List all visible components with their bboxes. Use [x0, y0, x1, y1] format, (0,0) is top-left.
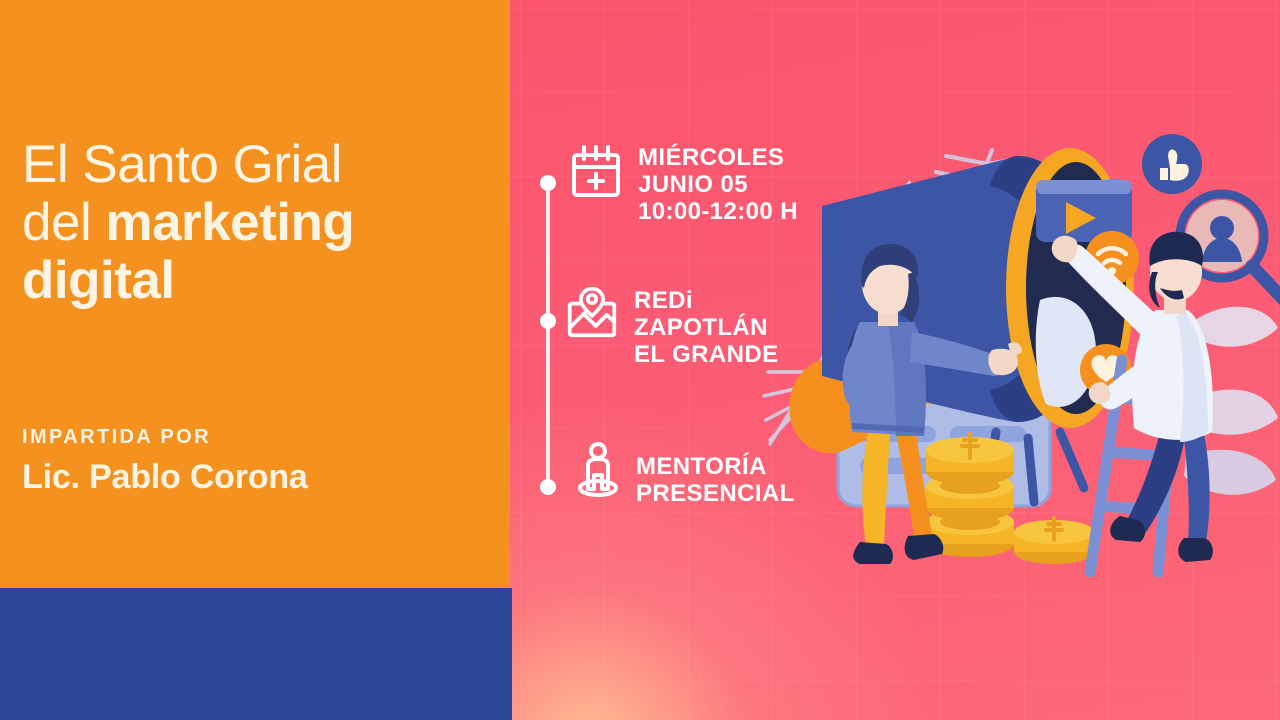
- detail-text-location: REDi ZAPOTLÁN EL GRANDE: [634, 283, 779, 368]
- timeline-dot-1: [540, 175, 556, 191]
- timeline-dot-3: [540, 479, 556, 495]
- calendar-plus-icon: [570, 142, 622, 200]
- speaker-pretitle: IMPARTIDA POR: [22, 424, 492, 450]
- detail-modality-line-2: PRESENCIAL: [636, 480, 795, 507]
- detail-row-location: REDi ZAPOTLÁN EL GRANDE: [566, 283, 779, 368]
- detail-modality-line-1: MENTORÍA: [636, 453, 795, 480]
- poster-canvas: El Santo Grial del marketing digital IMP…: [0, 0, 1280, 720]
- detail-location-line-2: ZAPOTLÁN: [634, 314, 779, 341]
- detail-text-date: MIÉRCOLES JUNIO 05 10:00-12:00 H: [638, 142, 798, 225]
- detail-date-line-1: MIÉRCOLES: [638, 144, 798, 171]
- bottom-blue-band: [0, 588, 512, 720]
- map-pin-icon: [566, 283, 618, 341]
- detail-text-modality: MENTORÍA PRESENCIAL: [636, 441, 795, 507]
- title-line-2: del marketing: [22, 194, 492, 252]
- title-line-3: digital: [22, 252, 492, 310]
- timeline-connector: [540, 175, 556, 495]
- detail-location-line-3: EL GRANDE: [634, 341, 779, 368]
- page-title: El Santo Grial del marketing digital: [22, 136, 492, 310]
- detail-location-line-1: REDi: [634, 287, 779, 314]
- detail-row-modality: MENTORÍA PRESENCIAL: [576, 441, 795, 507]
- title-line-1: El Santo Grial: [22, 136, 492, 194]
- timeline-rail: [546, 183, 550, 487]
- person-standing-icon: [576, 441, 620, 499]
- speaker-block: IMPARTIDA POR Lic. Pablo Corona: [22, 424, 492, 500]
- detail-row-date: MIÉRCOLES JUNIO 05 10:00-12:00 H: [570, 142, 798, 225]
- detail-date-line-3: 10:00-12:00 H: [638, 198, 798, 225]
- title-line-2-emphasis: marketing: [105, 193, 354, 252]
- detail-date-line-2: JUNIO 05: [638, 171, 798, 198]
- title-line-2-prefix: del: [22, 193, 105, 252]
- digital-marketing-illustration: [760, 60, 1280, 580]
- speaker-name: Lic. Pablo Corona: [22, 454, 492, 500]
- timeline-dot-2: [540, 313, 556, 329]
